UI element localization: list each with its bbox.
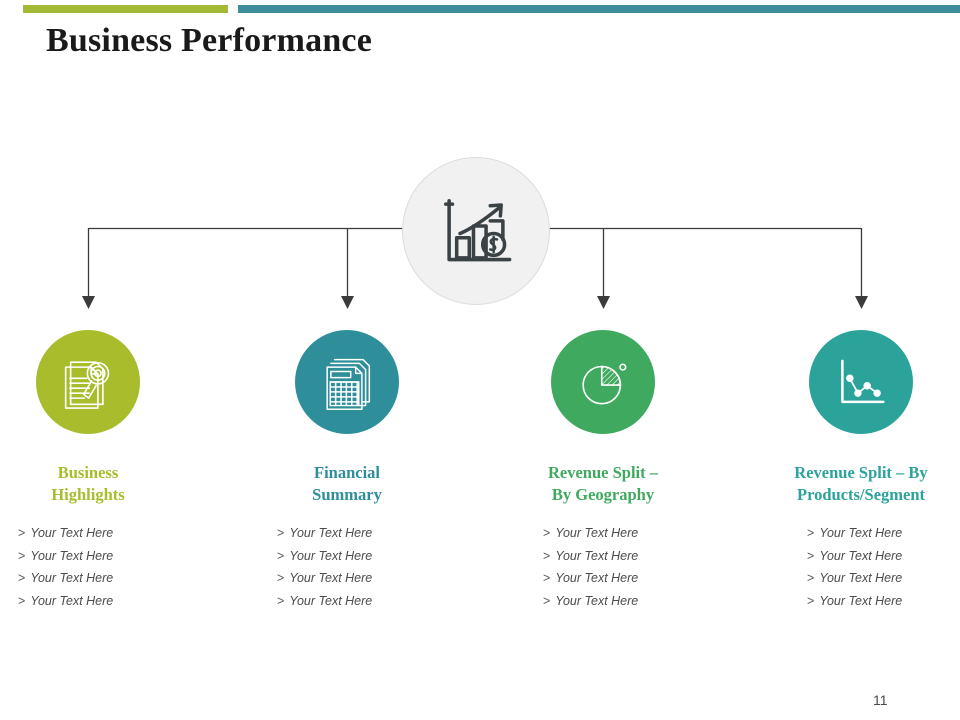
column-label-revenue-split-products: Revenue Split – By Products/Segment	[761, 462, 960, 506]
column-revenue-split-geography[interactable]: Revenue Split – By Geography >Your Text …	[503, 330, 703, 612]
bullet-text: Your Text Here	[30, 549, 113, 563]
icon-circle-revenue-split-products[interactable]	[809, 330, 913, 434]
column-label-line-1: Revenue Split – By	[794, 463, 927, 482]
column-label-financial-summary: Financial Summary	[247, 462, 447, 506]
bullet-text: Your Text Here	[30, 526, 113, 540]
bullet-marker: >	[807, 549, 814, 563]
accent-bar-teal	[238, 5, 960, 13]
slide-canvas: Business Performance	[0, 0, 960, 720]
page-number: 11	[873, 692, 888, 708]
bullet-text: Your Text Here	[30, 594, 113, 608]
bullet-text: Your Text Here	[819, 549, 902, 563]
bullet-marker: >	[543, 526, 550, 540]
hub-circle	[402, 157, 550, 305]
bullet-marker: >	[807, 526, 814, 540]
column-business-highlights[interactable]: Business Highlights >Your Text Here >You…	[0, 330, 188, 612]
column-label-revenue-split-geography: Revenue Split – By Geography	[503, 462, 703, 506]
bullet-marker: >	[807, 571, 814, 585]
line-chart-icon	[830, 351, 892, 413]
list-item: >Your Text Here	[18, 545, 188, 568]
column-revenue-split-products[interactable]: Revenue Split – By Products/Segment >You…	[761, 330, 960, 612]
list-item: >Your Text Here	[807, 590, 960, 613]
bullet-marker: >	[543, 594, 550, 608]
column-label-line-1: Financial	[314, 463, 380, 482]
spreadsheet-stack-icon	[316, 351, 378, 413]
list-item: >Your Text Here	[543, 590, 703, 613]
bullet-text: Your Text Here	[819, 526, 902, 540]
list-item: >Your Text Here	[543, 567, 703, 590]
list-item: >Your Text Here	[807, 522, 960, 545]
column-label-line-1: Business	[58, 463, 119, 482]
bullet-list-financial-summary: >Your Text Here >Your Text Here >Your Te…	[247, 522, 447, 612]
column-label-line-2: Products/Segment	[797, 485, 925, 504]
bullet-marker: >	[807, 594, 814, 608]
bullet-marker: >	[18, 571, 25, 585]
list-item: >Your Text Here	[543, 545, 703, 568]
pie-chart-icon	[572, 351, 634, 413]
column-label-line-2: Highlights	[51, 485, 124, 504]
bullet-text: Your Text Here	[555, 594, 638, 608]
list-item: >Your Text Here	[18, 522, 188, 545]
column-label-line-1: Revenue Split –	[548, 463, 658, 482]
bullet-marker: >	[543, 549, 550, 563]
bullet-text: Your Text Here	[555, 549, 638, 563]
bullet-marker: >	[543, 571, 550, 585]
bullet-text: Your Text Here	[819, 594, 902, 608]
list-item: >Your Text Here	[18, 590, 188, 613]
bar-chart-growth-dollar-icon	[434, 189, 518, 273]
page-title: Business Performance	[46, 22, 372, 60]
list-item: >Your Text Here	[807, 545, 960, 568]
list-item: >Your Text Here	[543, 522, 703, 545]
column-financial-summary[interactable]: Financial Summary >Your Text Here >Your …	[247, 330, 447, 612]
column-label-business-highlights: Business Highlights	[0, 462, 188, 506]
bullet-text: Your Text Here	[30, 571, 113, 585]
bullet-text: Your Text Here	[289, 526, 372, 540]
bullet-marker: >	[277, 549, 284, 563]
bullet-list-revenue-split-products: >Your Text Here >Your Text Here >Your Te…	[761, 522, 960, 612]
bullet-text: Your Text Here	[555, 526, 638, 540]
bullet-text: Your Text Here	[555, 571, 638, 585]
bullet-text: Your Text Here	[289, 571, 372, 585]
document-magnifier-icon	[57, 351, 119, 413]
list-item: >Your Text Here	[18, 567, 188, 590]
icon-circle-business-highlights[interactable]	[36, 330, 140, 434]
bullet-list-revenue-split-geography: >Your Text Here >Your Text Here >Your Te…	[503, 522, 703, 612]
column-label-line-2: Summary	[312, 485, 382, 504]
bullet-text: Your Text Here	[289, 594, 372, 608]
list-item: >Your Text Here	[277, 567, 447, 590]
bullet-marker: >	[18, 594, 25, 608]
list-item: >Your Text Here	[807, 567, 960, 590]
list-item: >Your Text Here	[277, 545, 447, 568]
bullet-marker: >	[18, 526, 25, 540]
list-item: >Your Text Here	[277, 590, 447, 613]
bullet-list-business-highlights: >Your Text Here >Your Text Here >Your Te…	[0, 522, 188, 612]
bullet-marker: >	[18, 549, 25, 563]
bullet-text: Your Text Here	[289, 549, 372, 563]
bullet-marker: >	[277, 571, 284, 585]
bullet-text: Your Text Here	[819, 571, 902, 585]
icon-circle-financial-summary[interactable]	[295, 330, 399, 434]
accent-bar-olive	[23, 5, 228, 13]
bullet-marker: >	[277, 526, 284, 540]
icon-circle-revenue-split-geography[interactable]	[551, 330, 655, 434]
bullet-marker: >	[277, 594, 284, 608]
list-item: >Your Text Here	[277, 522, 447, 545]
column-label-line-2: By Geography	[552, 485, 654, 504]
